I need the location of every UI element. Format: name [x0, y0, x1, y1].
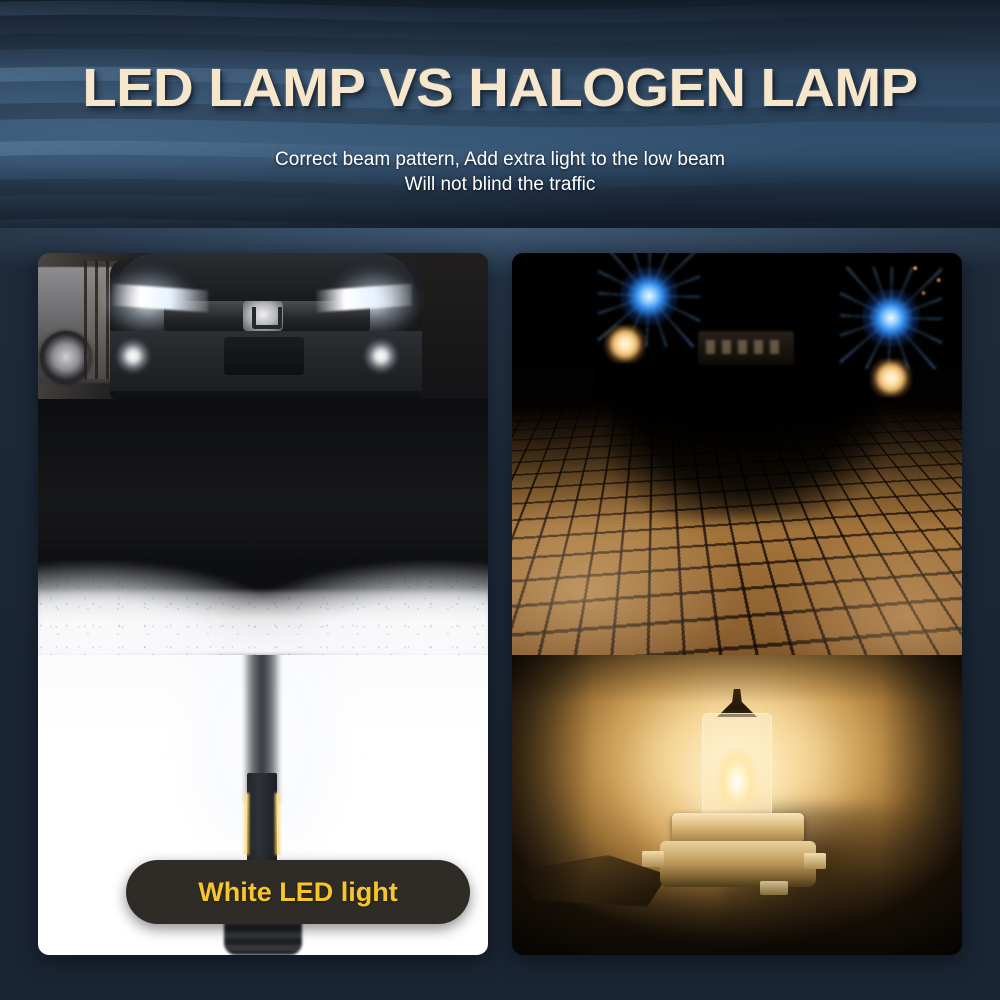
- halogen-license-plate: [698, 331, 794, 365]
- badge-white-led-label: White LED light: [198, 877, 397, 908]
- page-title: LED LAMP VS HALOGEN LAMP: [0, 57, 1000, 119]
- halogen-fog-lamp-left: [604, 325, 646, 363]
- comparison-panel-led: White LED light: [38, 253, 488, 955]
- badge-white-led-light: White LED light: [126, 860, 470, 924]
- license-plate: [224, 337, 304, 375]
- halogen-vignette: [512, 655, 962, 955]
- photo-halogen-bulb-product: [512, 655, 962, 955]
- blue-headlight-left: [620, 267, 678, 325]
- honda-emblem-icon: [243, 301, 283, 331]
- dark-car-silhouette: [608, 369, 878, 519]
- photo-led-road-scene: [38, 253, 488, 655]
- subtitle-line-1: Correct beam pattern, Add extra light to…: [275, 149, 725, 170]
- background-street-lights: [904, 259, 960, 305]
- led-chip-array: [247, 773, 277, 871]
- fog-lamp-left: [116, 339, 150, 373]
- fog-lamp-right: [364, 339, 398, 373]
- halogen-fog-lamp-right: [870, 359, 912, 397]
- photo-halogen-road-scene: [512, 253, 962, 655]
- asphalt-texture: [38, 553, 488, 655]
- comparison-panel-halogen: yellow halogen lamp: [512, 253, 962, 955]
- page-subtitle: Correct beam pattern, Add extra light to…: [0, 147, 1000, 197]
- subtitle-line-2: Will not blind the traffic: [0, 172, 1000, 197]
